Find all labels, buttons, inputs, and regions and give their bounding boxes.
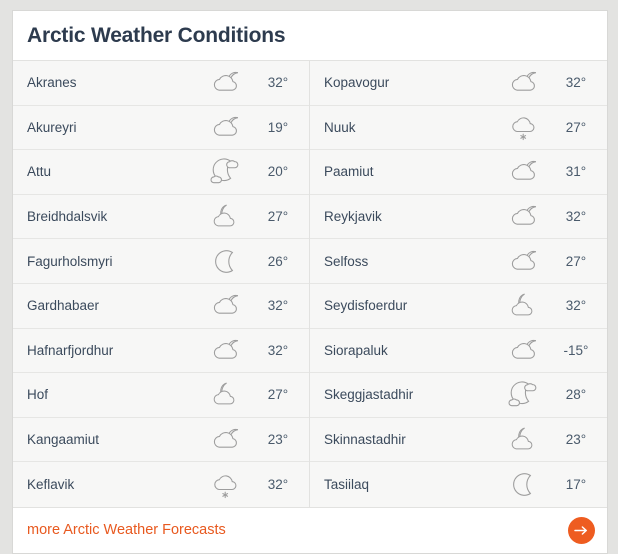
city-name: Kopavogur xyxy=(310,75,499,90)
temperature-value: -15° xyxy=(551,343,607,358)
temperature-value: 32° xyxy=(253,298,309,313)
temperature-value: 27° xyxy=(253,387,309,402)
city-name: Hafnarfjordhur xyxy=(13,343,201,358)
city-name: Akranes xyxy=(13,75,201,90)
cloud-with-snowflake-icon xyxy=(499,107,551,147)
weather-row[interactable]: Siorapaluk-15° xyxy=(310,329,607,374)
weather-grid: Akranes32°Akureyri19°Attu20°Breidhdalsvi… xyxy=(13,61,607,507)
city-name: Selfoss xyxy=(310,254,499,269)
temperature-value: 32° xyxy=(253,75,309,90)
city-name: Seydisfoerdur xyxy=(310,298,499,313)
card-footer: more Arctic Weather Forecasts xyxy=(13,507,607,553)
temperature-value: 28° xyxy=(551,387,607,402)
temperature-value: 32° xyxy=(551,298,607,313)
moon-behind-cloud-icon xyxy=(201,330,253,370)
temperature-value: 19° xyxy=(253,120,309,135)
city-name: Fagurholsmyri xyxy=(13,254,201,269)
arrow-right-icon xyxy=(574,524,589,537)
weather-row[interactable]: Gardhabaer32° xyxy=(13,284,309,329)
weather-column-left: Akranes32°Akureyri19°Attu20°Breidhdalsvi… xyxy=(13,61,310,507)
weather-row[interactable]: Paamiut31° xyxy=(310,150,607,195)
city-name: Breidhdalsvik xyxy=(13,209,201,224)
city-name: Kangaamiut xyxy=(13,432,201,447)
weather-row[interactable]: Nuuk27° xyxy=(310,106,607,151)
weather-row[interactable]: Akranes32° xyxy=(13,61,309,106)
moon-behind-cloud-icon xyxy=(499,63,551,103)
moon-above-cloud-icon xyxy=(201,197,253,237)
temperature-value: 23° xyxy=(253,432,309,447)
weather-row[interactable]: Selfoss27° xyxy=(310,239,607,284)
moon-with-clouds-icon xyxy=(499,375,551,415)
city-name: Paamiut xyxy=(310,164,499,179)
weather-row[interactable]: Kangaamiut23° xyxy=(13,418,309,463)
moon-above-cloud-icon xyxy=(201,375,253,415)
city-name: Reykjavik xyxy=(310,209,499,224)
moon-above-cloud-icon xyxy=(499,420,551,460)
weather-row[interactable]: Tasiilaq17° xyxy=(310,462,607,507)
moon-behind-cloud-icon xyxy=(201,286,253,326)
temperature-value: 27° xyxy=(551,120,607,135)
weather-row[interactable]: Attu20° xyxy=(13,150,309,195)
more-forecasts-link[interactable]: more Arctic Weather Forecasts xyxy=(27,522,226,538)
weather-row[interactable]: Akureyri19° xyxy=(13,106,309,151)
weather-card: Arctic Weather Conditions Akranes32°Akur… xyxy=(12,10,608,554)
temperature-value: 32° xyxy=(551,209,607,224)
city-name: Hof xyxy=(13,387,201,402)
weather-row[interactable]: Hof27° xyxy=(13,373,309,418)
weather-row[interactable]: Reykjavik32° xyxy=(310,195,607,240)
temperature-value: 32° xyxy=(253,477,309,492)
city-name: Siorapaluk xyxy=(310,343,499,358)
temperature-value: 27° xyxy=(253,209,309,224)
city-name: Gardhabaer xyxy=(13,298,201,313)
weather-row[interactable]: Keflavik32° xyxy=(13,462,309,507)
moon-behind-cloud-icon xyxy=(201,63,253,103)
card-header: Arctic Weather Conditions xyxy=(13,11,607,61)
temperature-value: 23° xyxy=(551,432,607,447)
temperature-value: 32° xyxy=(253,343,309,358)
temperature-value: 27° xyxy=(551,254,607,269)
weather-row[interactable]: Seydisfoerdur32° xyxy=(310,284,607,329)
city-name: Akureyri xyxy=(13,120,201,135)
temperature-value: 17° xyxy=(551,477,607,492)
cloud-with-snowflake-icon xyxy=(201,465,253,505)
next-button[interactable] xyxy=(568,517,595,544)
weather-row[interactable]: Kopavogur32° xyxy=(310,61,607,106)
moon-above-cloud-icon xyxy=(499,286,551,326)
city-name: Tasiilaq xyxy=(310,477,499,492)
page-title: Arctic Weather Conditions xyxy=(13,24,285,48)
clear-moon-icon xyxy=(499,465,551,505)
city-name: Nuuk xyxy=(310,120,499,135)
city-name: Skinnastadhir xyxy=(310,432,499,447)
temperature-value: 20° xyxy=(253,164,309,179)
weather-row[interactable]: Hafnarfjordhur32° xyxy=(13,329,309,374)
city-name: Skeggjastadhir xyxy=(310,387,499,402)
moon-behind-cloud-icon xyxy=(499,197,551,237)
weather-row[interactable]: Skeggjastadhir28° xyxy=(310,373,607,418)
city-name: Keflavik xyxy=(13,477,201,492)
moon-behind-cloud-icon xyxy=(499,330,551,370)
moon-behind-cloud-icon xyxy=(499,152,551,192)
city-name: Attu xyxy=(13,164,201,179)
moon-behind-cloud-icon xyxy=(499,241,551,281)
weather-row[interactable]: Skinnastadhir23° xyxy=(310,418,607,463)
moon-behind-cloud-icon xyxy=(201,420,253,460)
moon-with-clouds-icon xyxy=(201,152,253,192)
weather-row[interactable]: Breidhdalsvik27° xyxy=(13,195,309,240)
clear-moon-icon xyxy=(201,241,253,281)
weather-row[interactable]: Fagurholsmyri26° xyxy=(13,239,309,284)
temperature-value: 31° xyxy=(551,164,607,179)
weather-column-right: Kopavogur32°Nuuk27°Paamiut31°Reykjavik32… xyxy=(310,61,607,507)
temperature-value: 26° xyxy=(253,254,309,269)
temperature-value: 32° xyxy=(551,75,607,90)
moon-behind-cloud-icon xyxy=(201,107,253,147)
